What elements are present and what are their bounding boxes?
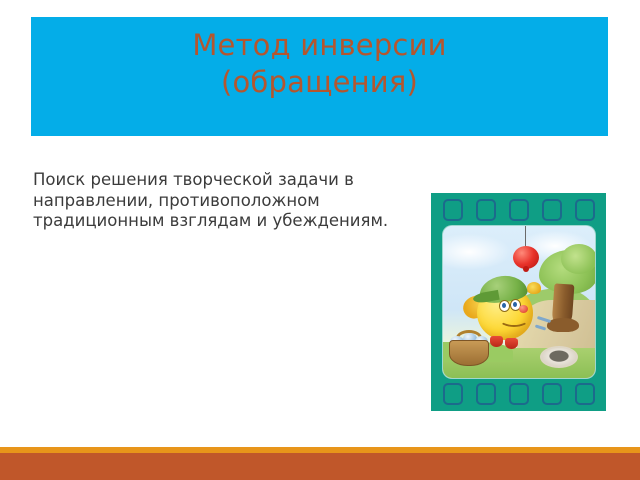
sprocket-row-bottom <box>431 382 606 406</box>
character-boot-right <box>505 338 518 349</box>
sprocket-hole-icon <box>476 199 496 221</box>
character-smile <box>499 312 529 327</box>
basket-icon <box>449 340 489 366</box>
illustration-image <box>443 226 595 378</box>
apple-tip-shape <box>523 266 529 272</box>
filmstrip-picture-frame <box>431 193 606 411</box>
character-hand <box>527 282 541 294</box>
slide-body-text: Поиск решения творческой задачи в направ… <box>33 170 408 232</box>
tree-crown-highlight <box>561 244 595 274</box>
sprocket-row-top <box>431 198 606 222</box>
tree-root-shape <box>547 318 579 332</box>
footer-base-bar <box>0 453 640 480</box>
title-banner: Метод инверсии (обращения) <box>31 17 608 136</box>
sprocket-hole-icon <box>443 199 463 221</box>
sprocket-hole-icon <box>575 199 595 221</box>
nest-icon <box>540 346 578 368</box>
presentation-slide: Метод инверсии (обращения) Поиск решения… <box>0 0 640 480</box>
sprocket-hole-icon <box>509 383 529 405</box>
sprocket-hole-icon <box>476 383 496 405</box>
sprocket-hole-icon <box>575 383 595 405</box>
character-pupil-right <box>513 302 517 307</box>
character-pupil-left <box>502 303 506 308</box>
sprocket-hole-icon <box>542 199 562 221</box>
sprocket-hole-icon <box>443 383 463 405</box>
character-boot-left <box>490 336 503 347</box>
apple-string <box>525 226 527 248</box>
sprocket-hole-icon <box>509 199 529 221</box>
sprocket-hole-icon <box>542 383 562 405</box>
slide-title: Метод инверсии (обращения) <box>31 27 608 101</box>
